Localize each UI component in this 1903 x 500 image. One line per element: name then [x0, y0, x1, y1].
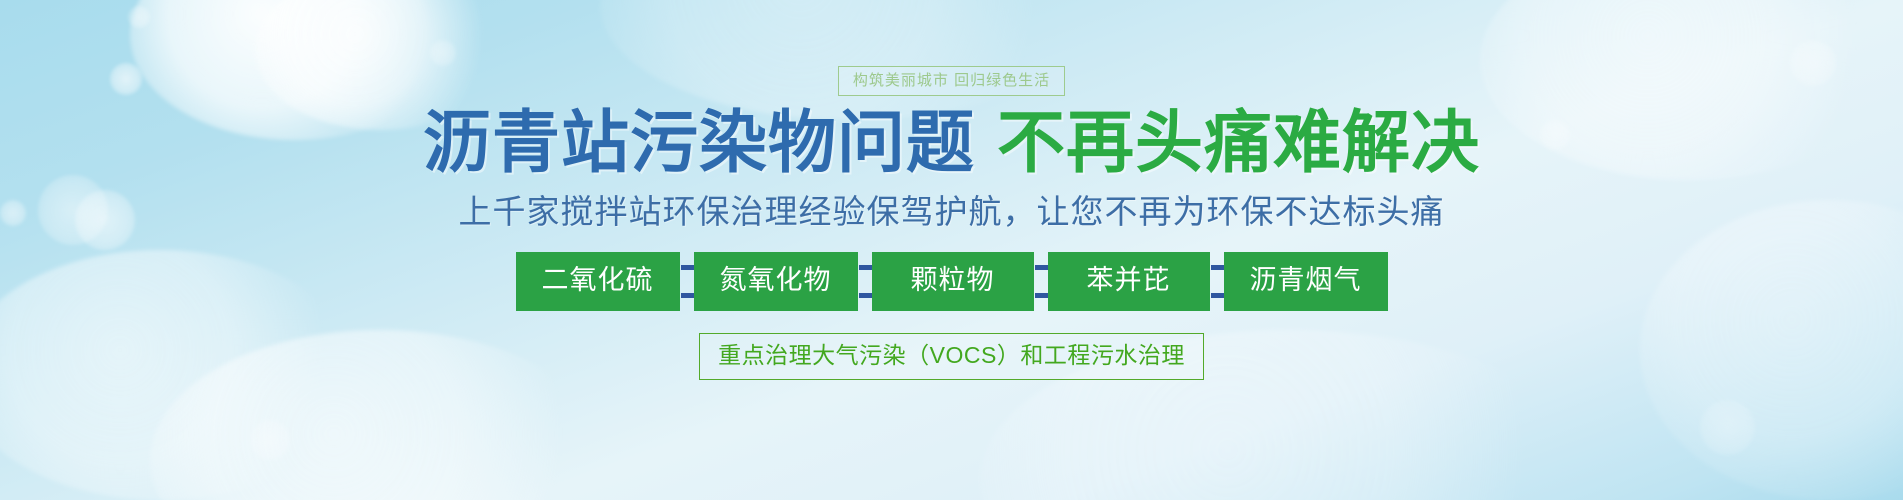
subheadline: 上千家搅拌站环保治理经验保驾护航，让您不再为环保不达标头痛 — [459, 195, 1445, 228]
headline: 沥青站污染物问题 不再头痛难解决 — [423, 110, 1480, 178]
headline-green-part: 不再头痛难解决 — [997, 110, 1480, 178]
tag-item[interactable]: 氮氧化物 — [694, 252, 858, 311]
tag-separator-icon — [680, 252, 694, 311]
pollutant-tag-row: 二氧化硫 氮氧化物 颗粒物 苯并芘 沥青烟气 — [516, 252, 1388, 311]
tag-item[interactable]: 苯并芘 — [1048, 252, 1210, 311]
banner-content: 构筑美丽城市 回归绿色生活 沥青站污染物问题 不再头痛难解决 上千家搅拌站环保治… — [0, 0, 1903, 500]
footnote-badge: 重点治理大气污染（VOCS）和工程污水治理 — [699, 333, 1204, 380]
tag-separator-icon — [1210, 252, 1224, 311]
tag-item[interactable]: 颗粒物 — [872, 252, 1034, 311]
tag-item[interactable]: 沥青烟气 — [1224, 252, 1388, 311]
tagline-badge: 构筑美丽城市 回归绿色生活 — [838, 66, 1065, 96]
tag-separator-icon — [858, 252, 872, 311]
hero-banner: 构筑美丽城市 回归绿色生活 沥青站污染物问题 不再头痛难解决 上千家搅拌站环保治… — [0, 0, 1903, 500]
tag-item[interactable]: 二氧化硫 — [516, 252, 680, 311]
headline-blue-part: 沥青站污染物问题 — [423, 110, 975, 178]
tag-separator-icon — [1034, 252, 1048, 311]
